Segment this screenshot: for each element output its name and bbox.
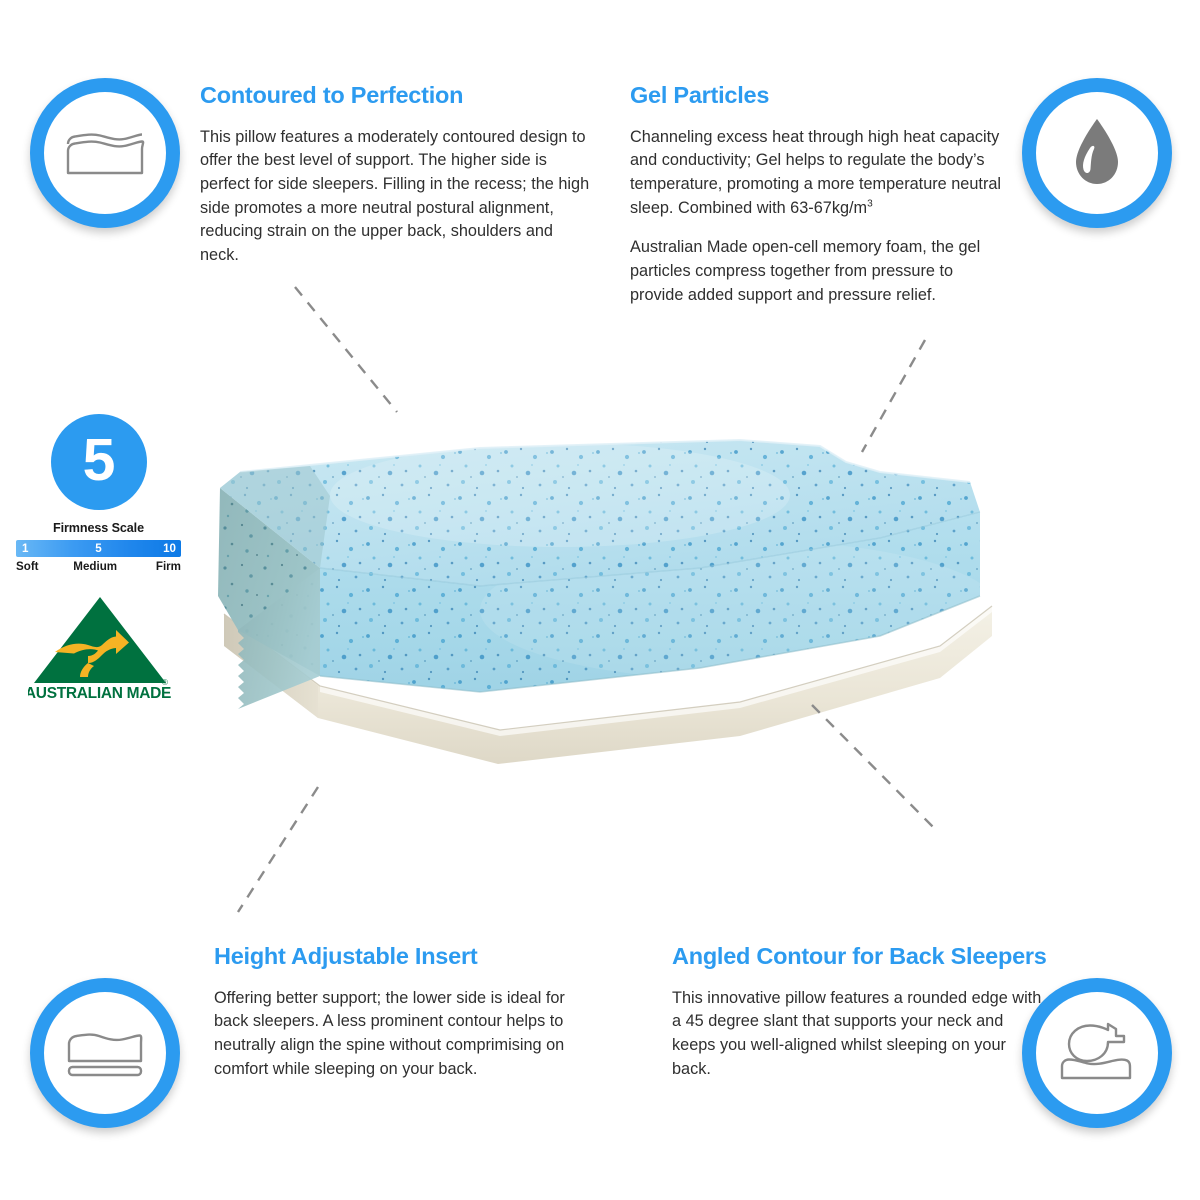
firmness-tick-high: 10 (163, 543, 176, 555)
feature-body-contoured: This pillow features a moderately contou… (200, 126, 592, 268)
head-on-pillow-icon (1054, 1020, 1140, 1086)
feature-block-angled: Angled Contour for Back Sleepers This in… (672, 944, 1047, 1081)
firmness-scale-words: Soft Medium Firm (16, 560, 181, 573)
feature-block-gel: Gel Particles Channeling excess heat thr… (630, 83, 1005, 307)
feature-heading-gel: Gel Particles (630, 83, 1005, 109)
feature-body-gel-1-text: Channeling excess heat through high heat… (630, 128, 1001, 217)
pillow-with-insert-icon (62, 1023, 148, 1083)
firmness-scale-label: Firmness Scale (16, 521, 181, 535)
registered-mark: ® (162, 678, 168, 687)
australian-made-text: AUSTRALIAN MADE (28, 685, 171, 702)
product-image-gel-contour-pillow (180, 400, 1030, 820)
firmness-word-firm: Firm (156, 560, 181, 573)
firmness-scale-widget: 5 Firmness Scale 1 5 10 Soft Medium Firm (16, 414, 181, 573)
feature-block-insert: Height Adjustable Insert Offering better… (214, 944, 599, 1081)
density-superscript: 3 (867, 198, 873, 209)
feature-heading-contoured: Contoured to Perfection (200, 83, 592, 109)
feature-icon-circle-gel (1022, 78, 1172, 228)
feature-body-insert: Offering better support; the lower side … (214, 987, 599, 1082)
feature-body-gel-1: Channeling excess heat through high heat… (630, 126, 1005, 221)
feature-heading-insert: Height Adjustable Insert (214, 944, 599, 970)
water-drop-icon (1070, 116, 1124, 190)
firmness-word-medium: Medium (73, 560, 117, 573)
feature-icon-circle-insert (30, 978, 180, 1128)
firmness-value: 5 (83, 431, 115, 490)
feature-icon-circle-contoured (30, 78, 180, 228)
firmness-tick-low: 1 (22, 543, 28, 555)
firmness-scale-bar: 1 5 10 (16, 540, 181, 557)
infographic-canvas: Contoured to Perfection This pillow feat… (0, 0, 1200, 1200)
feature-body-angled: This innovative pillow features a rounde… (672, 987, 1047, 1082)
pillow-contour-icon (62, 127, 148, 179)
leader-line-contoured (295, 287, 397, 412)
feature-body-gel-2: Australian Made open-cell memory foam, t… (630, 236, 1005, 307)
firmness-word-soft: Soft (16, 560, 39, 573)
feature-block-contoured: Contoured to Perfection This pillow feat… (200, 83, 592, 268)
feature-heading-angled: Angled Contour for Back Sleepers (672, 944, 1047, 970)
firmness-tick-mid: 5 (95, 543, 101, 555)
firmness-value-badge: 5 (51, 414, 147, 510)
australian-made-logo: AUSTRALIAN MADE ® (28, 593, 172, 705)
